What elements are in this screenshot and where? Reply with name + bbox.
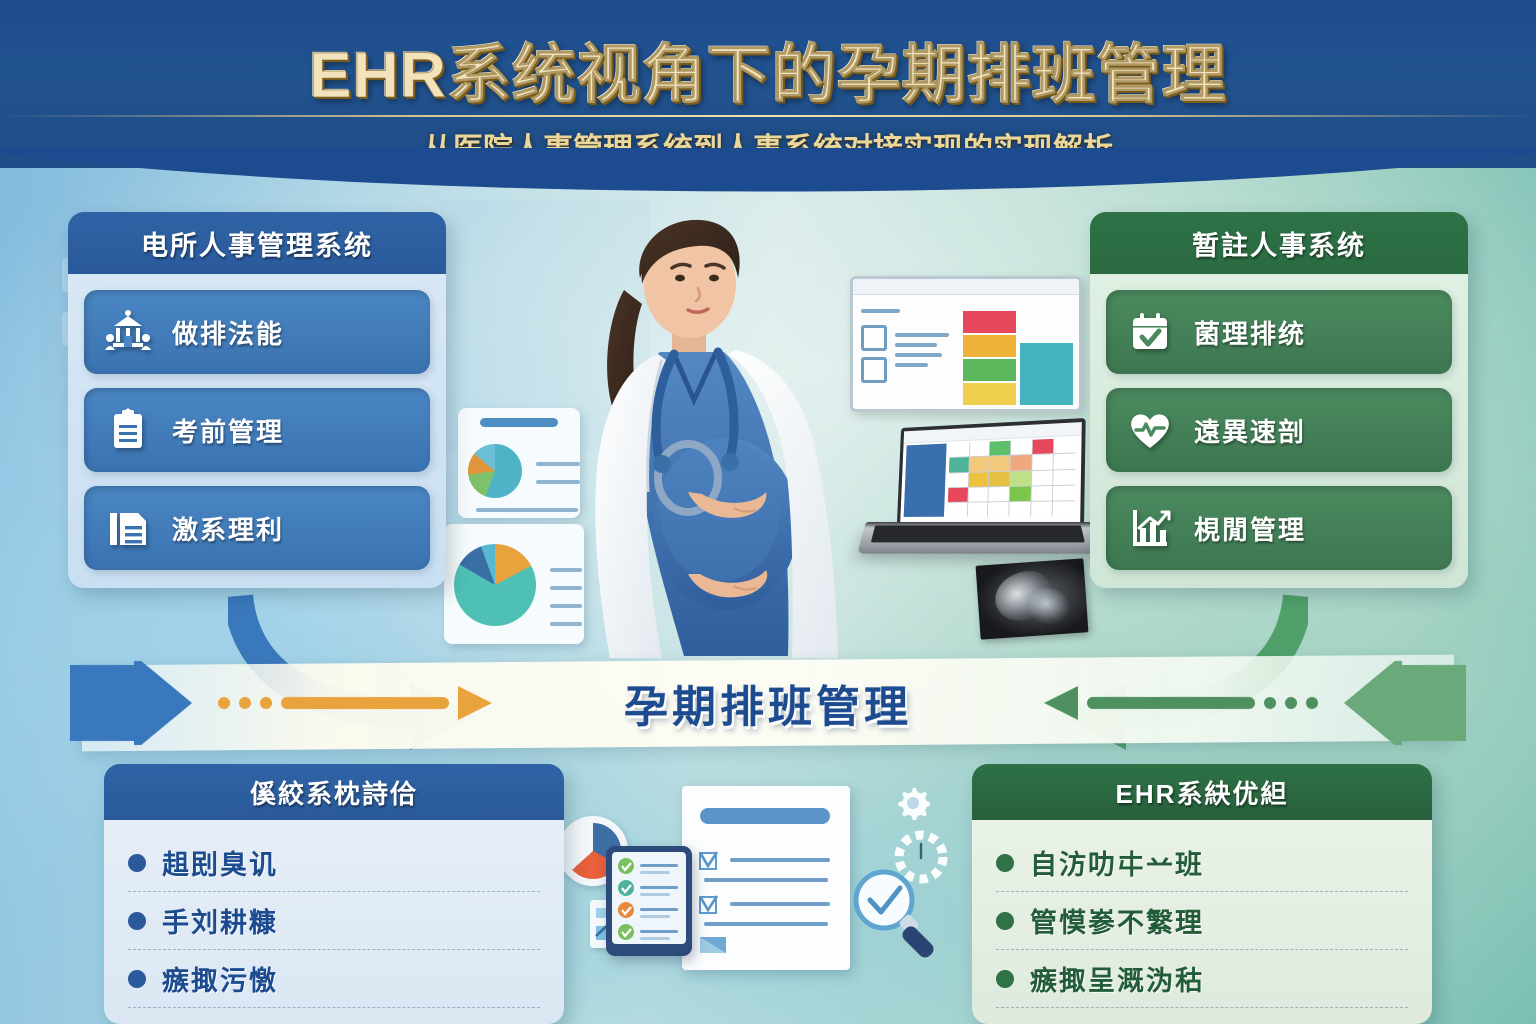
document-title-bar: [700, 808, 830, 824]
document-check-2: [698, 894, 720, 916]
laptop-calendar-grid: [947, 438, 1075, 516]
panel-right-items: 菌理排统 遠異速剖: [1090, 274, 1468, 588]
gold-divider: [0, 115, 1536, 117]
pie-chart-lower: [454, 544, 536, 626]
infographic-canvas: EHR系统视角下的孕期排班管理 从医院人事管理系统到人事系统对接实现的实现解析: [0, 0, 1536, 1024]
bullet-icon: [128, 970, 146, 988]
panel-traditional-system-challenges: 傒絞系枕詩佮 趄刡臭讥 手刘耕糠 瘯掫污憿: [104, 764, 564, 1024]
right-flow-dashes: [1044, 682, 1318, 724]
list-item: 瘯掫呈溉沩秙: [996, 950, 1408, 1008]
feature-label: 梘閒管理: [1194, 510, 1306, 547]
center-banner: 孕期排班管理: [82, 655, 1454, 752]
monitor-text-line-3: [895, 353, 942, 357]
feature-label: 做排法能: [172, 314, 284, 351]
panel-ehr-advantages: EHR系䊽优䋎 自汸叻㐄䒑班 管慔㟥不䌓理 瘯掫呈溉沩秙: [972, 764, 1432, 1024]
monitor-text-line-4: [895, 363, 928, 367]
monitor-titlebar: [853, 279, 1079, 295]
feature-label: 遠異速剖: [1194, 412, 1306, 449]
monitor-line: [861, 309, 900, 313]
panel-scheduling-hr-system: 暂註人事系统 菌理排统: [1090, 212, 1468, 588]
document-check-1: [698, 850, 720, 872]
ultrasound-photo: [976, 558, 1089, 639]
calendar-check-icon: [1124, 306, 1176, 358]
bullet-icon: [996, 970, 1014, 988]
document-row-1: [730, 858, 830, 862]
bullet-icon: [128, 854, 146, 872]
laptop-screen: [897, 418, 1086, 526]
document-tag: [698, 934, 728, 956]
bottom-left-items: 趄刡臭讥 手刘耕糠 瘯掫污憿: [104, 820, 564, 1024]
feature-item-analytics[interactable]: 梘閒管理: [1106, 486, 1452, 570]
tablet-screen: [612, 852, 686, 944]
central-illustration: [430, 180, 1090, 680]
bullet-icon: [128, 912, 146, 930]
list-item-label: 瘯掫呈溉沩秙: [1030, 959, 1204, 998]
monitor-bar-chart: [963, 303, 1073, 405]
monitor-chart-column: [957, 295, 1079, 412]
bottom-tablet-checklist: [606, 846, 692, 956]
laptop-sidebar: [904, 444, 947, 517]
laptop-keyboard-base: [857, 522, 1105, 554]
feature-item-schedule[interactable]: 菌理排统: [1106, 290, 1452, 374]
dashboard-monitor: [850, 276, 1082, 412]
header-band: EHR系统视角下的孕期排班管理 从医院人事管理系统到人事系统对接实现的实现解析: [0, 0, 1536, 168]
laptop-with-schedule: [866, 416, 1096, 566]
list-item-label: 瘯掫污憿: [162, 959, 278, 998]
panel-left-title: 电所人事管理系统: [68, 212, 446, 274]
monitor-bar-stack-1: [963, 303, 1016, 405]
list-item: 趄刡臭讥: [128, 834, 540, 892]
list-item: 瘯掫污憿: [128, 950, 540, 1008]
pie-chart-upper: [468, 444, 522, 498]
monitor-text-line-1: [895, 333, 949, 337]
institution-icon: [102, 306, 154, 358]
banner-inner: 孕期排班管理: [82, 660, 1454, 746]
bottom-illustration: [556, 772, 956, 1002]
list-item-label: 手刘耕糠: [162, 901, 278, 940]
document-row-2b: [704, 922, 828, 926]
bottom-left-title: 傒絞系枕詩佮: [104, 764, 564, 820]
document-row-2: [730, 902, 830, 906]
monitor-content: [853, 295, 1079, 412]
document-row-1b: [704, 878, 828, 882]
banner-right-arrow: [1344, 661, 1466, 745]
monitor-checkbox-2: [861, 357, 887, 383]
list-item: 手刘耕糠: [128, 892, 540, 950]
monitor-bar-stack-2: [1020, 303, 1073, 405]
panel-right-title: 暂註人事系统: [1090, 212, 1468, 274]
bullet-icon: [996, 912, 1014, 930]
clipboard-icon: [102, 404, 154, 456]
feature-label: 激系理利: [172, 510, 284, 547]
feature-label: 菌理排统: [1194, 314, 1306, 351]
monitor-text-line-2: [895, 343, 937, 347]
list-item-label: 管慔㟥不䌓理: [1030, 901, 1204, 940]
heart-pulse-icon: [1124, 404, 1176, 456]
list-item-label: 自汸叻㐄䒑班: [1030, 843, 1204, 882]
pregnant-doctor-illustration: [538, 192, 838, 662]
feature-item-institution[interactable]: 做排法能: [84, 290, 430, 374]
monitor-form-column: [853, 295, 957, 412]
gear-icon: [896, 786, 930, 820]
feature-item-attendance[interactable]: 考前管理: [84, 388, 430, 472]
bullet-icon: [996, 854, 1014, 872]
feature-label: 考前管理: [172, 412, 284, 449]
monitor-checkbox-1: [861, 325, 887, 351]
right-mid-arrowhead: [1044, 682, 1078, 724]
document-icon: [102, 502, 154, 554]
list-item: 管慔㟥不䌓理: [996, 892, 1408, 950]
bottom-right-title: EHR系䊽优䋎: [972, 764, 1432, 820]
feature-item-health[interactable]: 遠異速剖: [1106, 388, 1452, 472]
list-item-label: 趄刡臭讥: [162, 843, 278, 882]
panel-hospital-hr-system: 电所人事管理系统 做排法能: [68, 212, 446, 588]
feature-item-records[interactable]: 激系理利: [84, 486, 430, 570]
page-title: EHR系统视角下的孕期排班管理: [0, 24, 1536, 116]
magnifier-check-icon: [848, 864, 940, 960]
bottom-right-items: 自汸叻㐄䒑班 管慔㟥不䌓理 瘯掫呈溉沩秙: [972, 820, 1432, 1024]
list-item: 自汸叻㐄䒑班: [996, 834, 1408, 892]
bottom-document-checklist: [682, 786, 850, 970]
bar-chart-growth-icon: [1124, 502, 1176, 554]
panel-left-items: 做排法能 考前管理: [68, 274, 446, 588]
laptop-keys: [871, 525, 1085, 542]
